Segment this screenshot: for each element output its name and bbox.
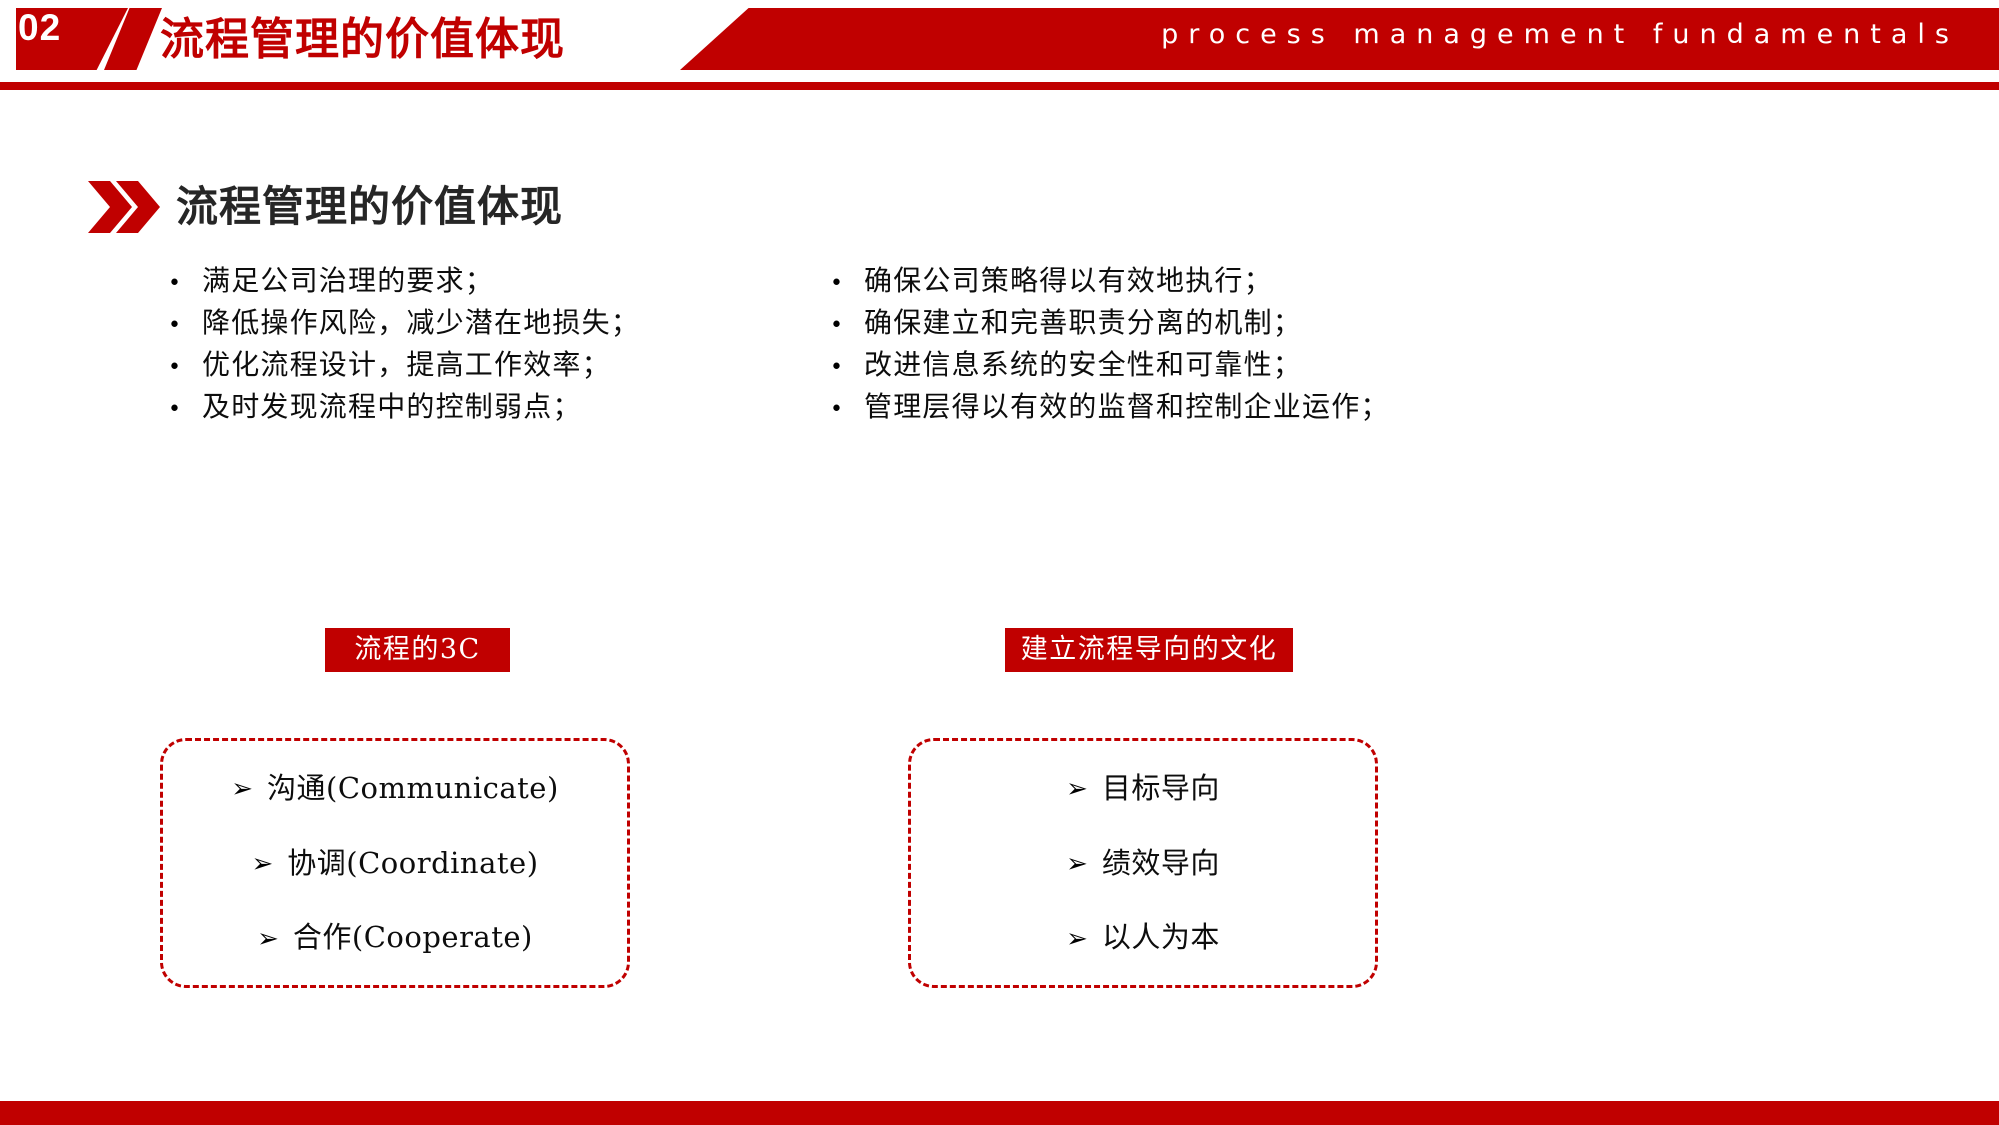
bullet-dot-icon: • (830, 391, 864, 429)
list-item: • 优化流程设计，提高工作效率； (168, 346, 640, 384)
arrow-right-icon: ➢ (231, 775, 253, 801)
list-item: • 及时发现流程中的控制弱点； (168, 388, 640, 426)
list-item: ➢ 以人为本 (1066, 920, 1220, 955)
list-item-label: 以人为本 (1102, 920, 1220, 955)
list-item-label: 沟通(Communicate) (267, 771, 559, 806)
arrow-right-icon: ➢ (1066, 925, 1088, 951)
panel-right-list: ➢ 目标导向 ➢ 绩效导向 ➢ 以人为本 (911, 741, 1375, 985)
arrow-right-icon: ➢ (251, 850, 273, 876)
list-item: ➢ 绩效导向 (1066, 846, 1220, 881)
list-item: • 确保建立和完善职责分离的机制； (830, 304, 1390, 342)
list-item: ➢ 目标导向 (1066, 771, 1220, 806)
slide-header: 02 流程管理的价值体现 process management fundamen… (0, 0, 1999, 78)
list-item: • 满足公司治理的要求； (168, 262, 640, 300)
list-item-label: 协调(Coordinate) (287, 846, 538, 881)
double-chevron-right-icon (88, 181, 160, 233)
list-item: • 降低操作风险，减少潜在地损失； (168, 304, 640, 342)
list-item-label: 确保建立和完善职责分离的机制； (864, 304, 1302, 342)
list-item-label: 确保公司策略得以有效地执行； (864, 262, 1273, 300)
arrow-right-icon: ➢ (1066, 850, 1088, 876)
list-item-label: 优化流程设计，提高工作效率； (202, 346, 611, 384)
list-item: ➢ 沟通(Communicate) (231, 771, 559, 806)
list-item-label: 目标导向 (1102, 771, 1220, 806)
section-number-label: 02 (18, 9, 61, 46)
list-item-label: 改进信息系统的安全性和可靠性； (864, 346, 1302, 384)
bullet-dot-icon: • (830, 349, 864, 387)
page-title: 流程管理的价值体现 (176, 184, 563, 230)
bullet-dot-icon: • (168, 391, 202, 429)
list-item-label: 合作(Cooperate) (293, 920, 533, 955)
arrow-right-icon: ➢ (1066, 775, 1088, 801)
arrow-right-icon: ➢ (257, 925, 279, 951)
bullet-dot-icon: • (168, 265, 202, 303)
footer-bar (0, 1101, 1999, 1125)
list-item-label: 满足公司治理的要求； (202, 262, 494, 300)
header-subtitle: process management fundamentals (1161, 21, 1959, 48)
list-item: ➢ 合作(Cooperate) (257, 920, 533, 955)
list-item-label: 及时发现流程中的控制弱点； (202, 388, 582, 426)
panel-label-left: 流程的3C (325, 628, 510, 672)
header-title: 流程管理的价值体现 (160, 10, 565, 70)
bullet-dot-icon: • (168, 349, 202, 387)
list-item-label: 绩效导向 (1102, 846, 1220, 881)
header-divider-rule (0, 82, 1999, 90)
list-item: • 确保公司策略得以有效地执行； (830, 262, 1390, 300)
panel-right: ➢ 目标导向 ➢ 绩效导向 ➢ 以人为本 (908, 738, 1378, 988)
list-item-label: 降低操作风险，减少潜在地损失； (202, 304, 640, 342)
list-item: ➢ 协调(Coordinate) (251, 846, 538, 881)
panel-left: ➢ 沟通(Communicate) ➢ 协调(Coordinate) ➢ 合作(… (160, 738, 630, 988)
bullet-dot-icon: • (830, 307, 864, 345)
bullet-dot-icon: • (830, 265, 864, 303)
list-item: • 管理层得以有效的监督和控制企业运作； (830, 388, 1390, 426)
bullet-list-left: • 满足公司治理的要求； • 降低操作风险，减少潜在地损失； • 优化流程设计，… (168, 262, 640, 430)
panel-label-right: 建立流程导向的文化 (1005, 628, 1293, 672)
section-title-row: 流程管理的价值体现 (88, 175, 563, 239)
list-item-label: 管理层得以有效的监督和控制企业运作； (864, 388, 1390, 426)
panel-left-list: ➢ 沟通(Communicate) ➢ 协调(Coordinate) ➢ 合作(… (163, 741, 627, 985)
bullet-list-right: • 确保公司策略得以有效地执行； • 确保建立和完善职责分离的机制； • 改进信… (830, 262, 1390, 430)
bullet-dot-icon: • (168, 307, 202, 345)
list-item: • 改进信息系统的安全性和可靠性； (830, 346, 1390, 384)
